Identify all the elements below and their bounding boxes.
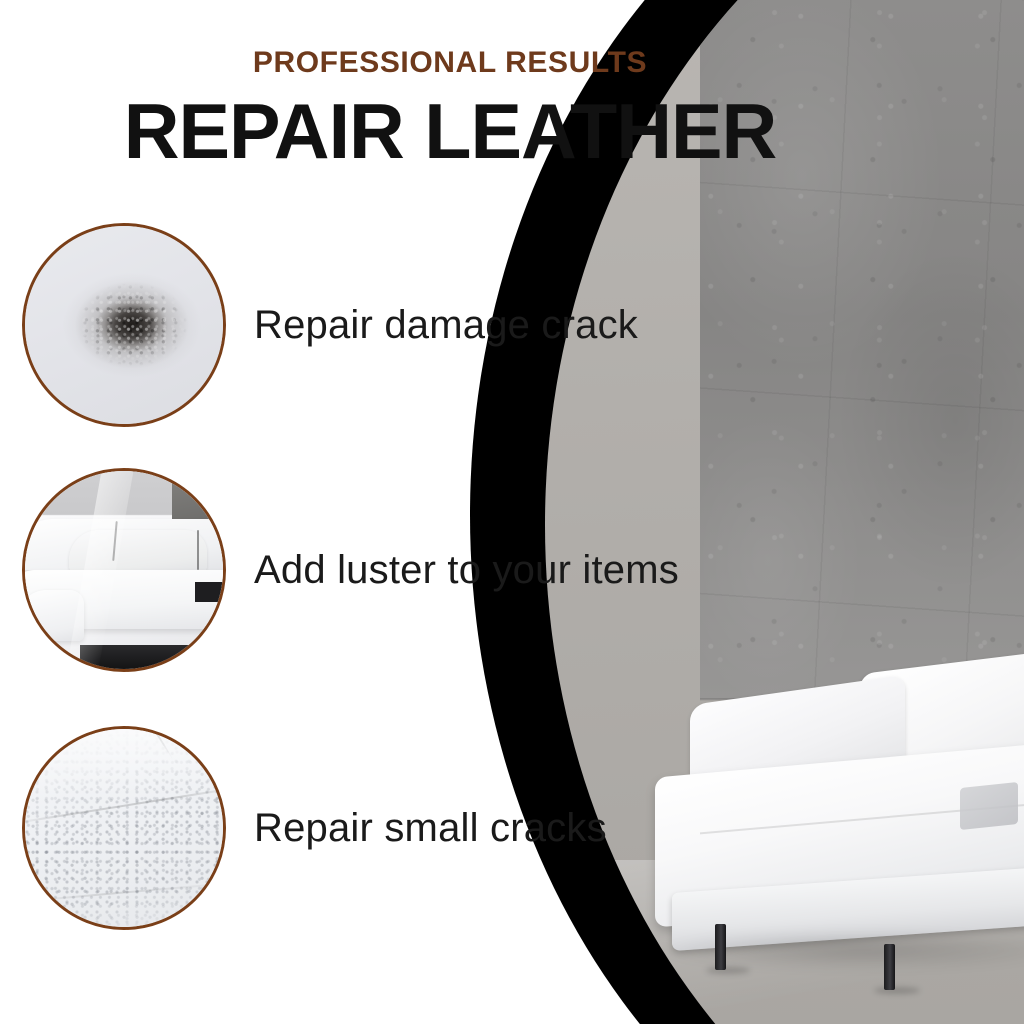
poster: PROFESSIONAL RESULTS REPAIR LEATHER Repa… xyxy=(0,0,1024,1024)
feature-row-repair-small-cracks: Repair small cracks xyxy=(22,725,742,931)
sofa-thumb-wall xyxy=(172,471,223,519)
white-leather-fine-cracks-icon xyxy=(25,729,223,927)
cracks-thumb-fold xyxy=(22,881,226,903)
cracks-thumb-gleam xyxy=(25,729,223,796)
feature-row-add-luster: Add luster to your items xyxy=(22,467,742,673)
sofa-thumb-dark-side xyxy=(195,582,223,602)
content-column: PROFESSIONAL RESULTS REPAIR LEATHER Repa… xyxy=(0,0,1024,1024)
damaged-leather-crack-icon xyxy=(25,226,223,424)
feature-label: Add luster to your items xyxy=(254,548,679,593)
eyebrow-text: PROFESSIONAL RESULTS xyxy=(0,46,900,80)
feature-thumbnail-damage-crack xyxy=(22,223,226,427)
page-title: REPAIR LEATHER xyxy=(5,92,896,170)
white-leather-sofa-icon xyxy=(25,471,223,669)
feature-thumbnail-sofa-luster xyxy=(22,468,226,672)
feature-label: Repair damage crack xyxy=(254,303,638,348)
feature-label: Repair small cracks xyxy=(254,806,607,851)
feature-thumbnail-small-cracks xyxy=(22,726,226,930)
sofa-thumb-seam xyxy=(197,530,199,570)
feature-row-repair-damage-crack: Repair damage crack xyxy=(22,222,742,428)
